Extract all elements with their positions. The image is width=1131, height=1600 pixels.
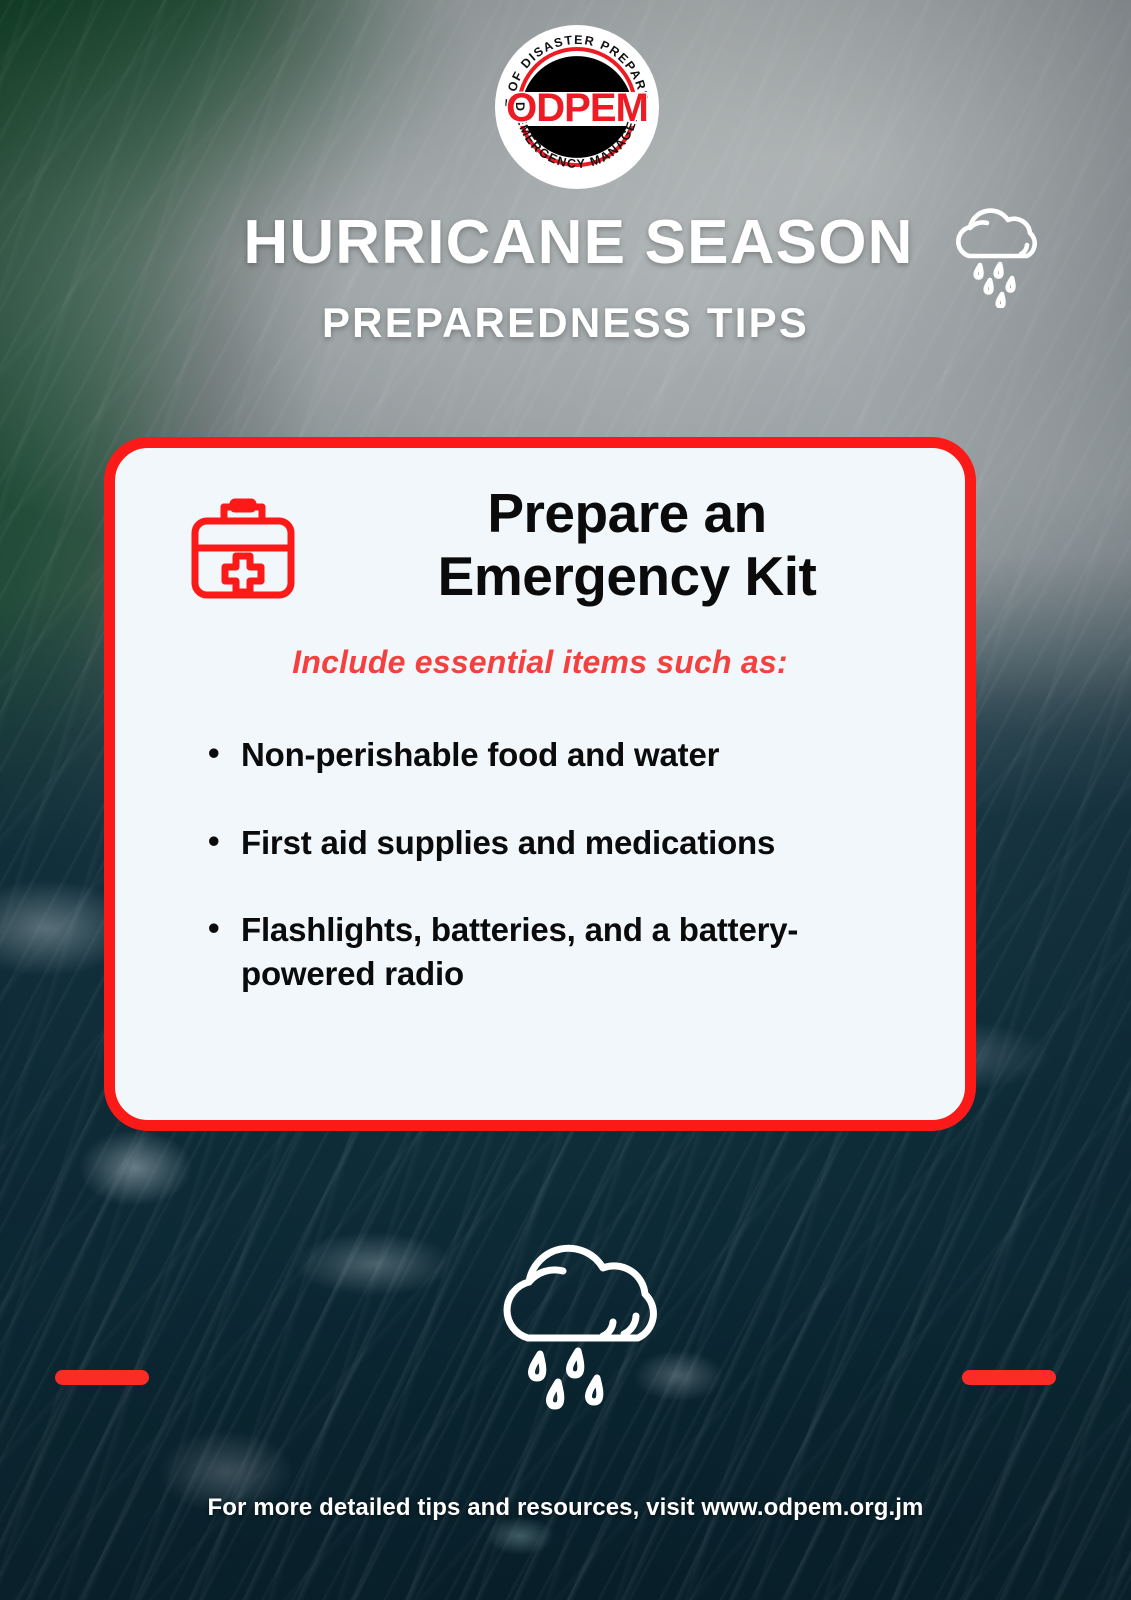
card-subtitle: Include essential items such as: xyxy=(115,644,965,681)
red-dash-right xyxy=(962,1370,1056,1385)
odpem-logo: OFFICE OF DISASTER PREPAREDNESS AND EMER… xyxy=(494,24,660,190)
card-header: Prepare anEmergency Kit xyxy=(115,448,965,608)
list-item: First aid supplies and medications xyxy=(241,821,907,865)
first-aid-kit-icon xyxy=(183,488,303,608)
rain-cloud-icon xyxy=(940,196,1052,308)
footer-text: For more detailed tips and resources, vi… xyxy=(0,1494,1131,1522)
red-dash-left xyxy=(55,1370,149,1385)
card-title: Prepare anEmergency Kit xyxy=(325,482,965,607)
emergency-kit-card: Prepare anEmergency Kit Include essentia… xyxy=(104,437,976,1131)
logo-acronym: ODPEM xyxy=(506,86,648,130)
poster-root: OFFICE OF DISASTER PREPAREDNESS AND EMER… xyxy=(0,0,1131,1600)
rain-cloud-icon xyxy=(466,1216,678,1416)
kit-items-list: Non-perishable food and water First aid … xyxy=(115,733,965,995)
list-item: Flashlights, batteries, and a battery-po… xyxy=(241,908,907,995)
list-item: Non-perishable food and water xyxy=(241,733,907,777)
page-subtitle: PREPAREDNESS TIPS xyxy=(0,302,1131,344)
